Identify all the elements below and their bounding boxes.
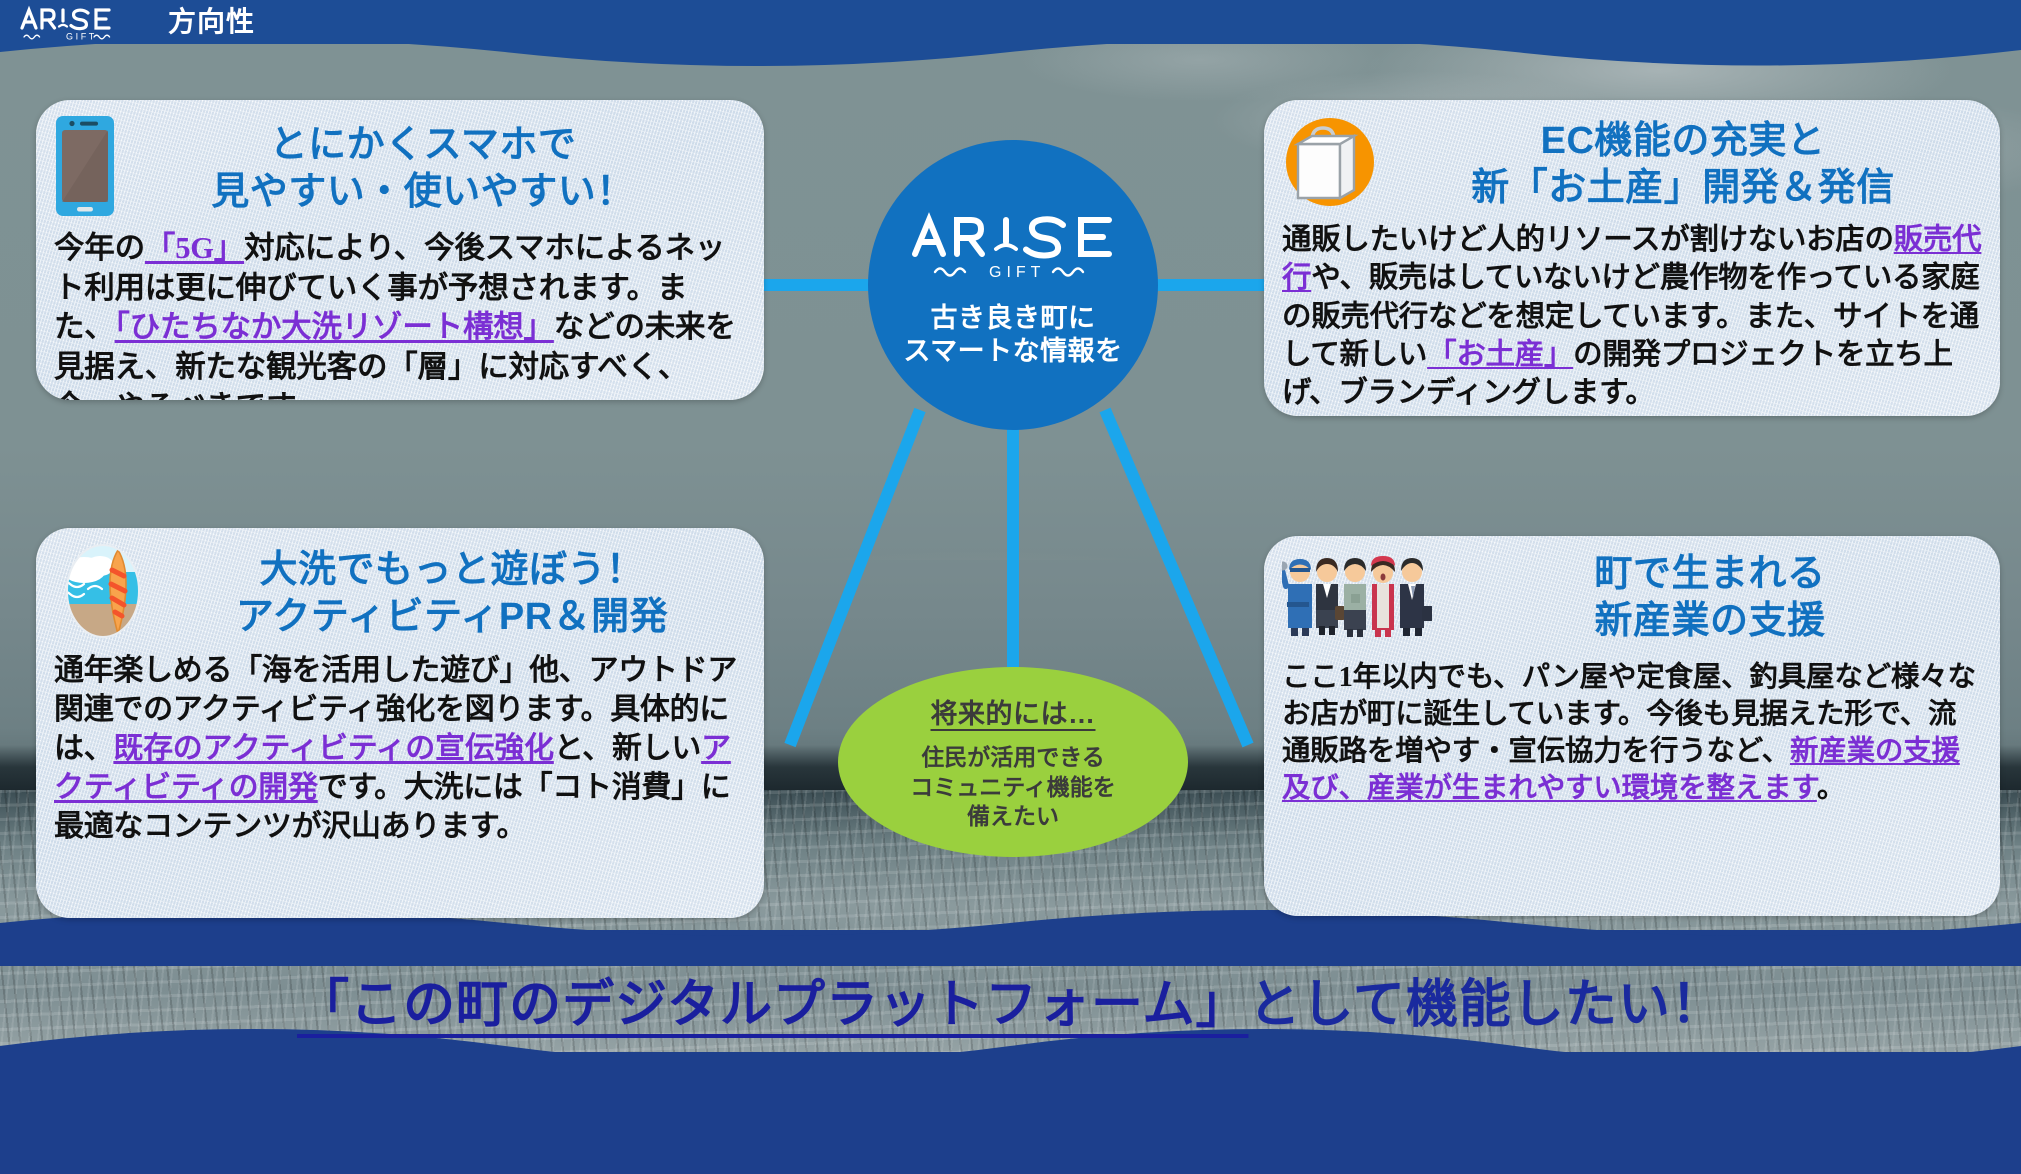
link-run[interactable]: 「ひたちなか大洗リゾート構想」 [115,310,554,344]
card-smartphone-body: 今年の「5G」対応により、今後スマホによるネット利用は更に伸びていく事が予想され… [54,229,746,400]
card-activity-body: 通年楽しめる「海を活用した遊び」他、アウトドア関連でのアクティビティ強化を図りま… [54,651,746,846]
future-bubble-line1: 住民が活用できる [910,743,1116,772]
link-run[interactable]: 「お土産」 [1427,339,1573,371]
future-bubble-line2: コミュニティ機能を [910,773,1116,802]
card-smartphone-header: とにかくスマホで 見やすい・使いやすい！ [54,114,746,223]
card-activity-title-line2: アクティビティPR＆開発 [158,594,746,640]
arise-gift-logo-icon: GIFT [18,2,154,42]
bottom-headline-emphasis: 「この町のデジタルプラットフォーム」 [297,976,1248,1034]
text-run: 今年の [54,231,145,265]
center-hub-circle: GIFT 古き良き町に スマートな情報を [868,140,1158,430]
slide-root: GIFT 方向性 GIFT [0,0,2021,1174]
card-industry-title: 町で生まれる 新産業の支援 [1438,551,1982,644]
future-vision-bubble: 将来的には… 住民が活用できる コミュニティ機能を 備えたい [838,667,1188,857]
card-smartphone[interactable]: とにかくスマホで 見やすい・使いやすい！ 今年の「5G」対応により、今後スマホに… [36,100,764,400]
arise-gift-logo-icon-large: GIFT [907,208,1119,292]
center-tagline-line1: 古き良き町に [903,302,1122,335]
center-tagline: 古き良き町に スマートな情報を [903,302,1122,368]
card-activity[interactable]: 大洗でもっと遊ぼう！ アクティビティPR＆開発 通年楽しめる「海を活用した遊び」… [36,528,764,918]
shopping-bag-icon [1282,114,1378,215]
header-bar [0,0,2021,44]
bottom-headline-rest: として機能したい！ [1248,976,1723,1034]
card-ec[interactable]: EC機能の充実と 新「お土産」開発＆発信 通販したいけど人的リソースが割けないお… [1264,100,2000,416]
card-activity-header: 大洗でもっと遊ぼう！ アクティビティPR＆開発 [54,542,746,645]
future-bubble-body: 住民が活用できる コミュニティ機能を 備えたい [910,743,1116,831]
card-industry-title-line2: 新産業の支援 [1438,598,1982,644]
bottom-headline: 「この町のデジタルプラットフォーム」として機能したい！ [0,962,2021,1037]
card-industry[interactable]: 町で生まれる 新産業の支援 ここ1年以内でも、パン屋や定食屋、釣具屋など様々なお… [1264,536,2000,916]
link-run[interactable]: 「5G」 [145,231,244,265]
card-ec-header: EC機能の充実と 新「お土産」開発＆発信 [1282,114,1982,215]
card-ec-body: 通販したいけど人的リソースが割けないお店の販売代行や、販売はしていないけど農作物… [1282,221,1982,413]
text-run: と、新しい [554,732,701,765]
card-ec-title: EC機能の充実と 新「お土産」開発＆発信 [1384,118,1982,211]
card-smartphone-title-line2: 見やすい・使いやすい！ [122,169,724,215]
card-activity-title: 大洗でもっと遊ぼう！ アクティビティPR＆開発 [158,547,746,640]
link-run[interactable]: 既存のアクティビティの宣伝強化 [113,732,553,765]
card-activity-title-line1: 大洗でもっと遊ぼう！ [158,547,746,593]
beach-surfboard-icon [54,542,152,645]
text-run: 。 [1817,773,1845,804]
text-run: 通販したいけど人的リソースが割けないお店の [1282,224,1894,256]
card-industry-header: 町で生まれる 新産業の支援 [1282,550,1982,645]
card-smartphone-title-line1: とにかくスマホで [122,122,724,168]
card-ec-title-line1: EC機能の充実と [1384,118,1982,164]
header-logo-group: GIFT 方向性 [18,2,255,42]
card-smartphone-title: とにかくスマホで 見やすい・使いやすい！ [122,122,746,215]
people-group-icon [1282,550,1432,645]
card-industry-body: ここ1年以内でも、パン屋や定食屋、釣具屋など様々なお店が町に誕生しています。今後… [1282,659,1982,807]
smartphone-icon [54,114,116,223]
svg-text:GIFT: GIFT [66,32,97,42]
future-bubble-line3: 備えたい [910,802,1116,831]
card-industry-title-line1: 町で生まれる [1438,551,1982,597]
svg-text:GIFT: GIFT [989,264,1045,281]
card-ec-title-line2: 新「お土産」開発＆発信 [1384,165,1982,211]
header-scallop-divider [0,38,2021,80]
future-bubble-title: 将来的には… [931,692,1096,731]
center-tagline-line2: スマートな情報を [903,335,1122,368]
page-title: 方向性 [168,2,255,42]
